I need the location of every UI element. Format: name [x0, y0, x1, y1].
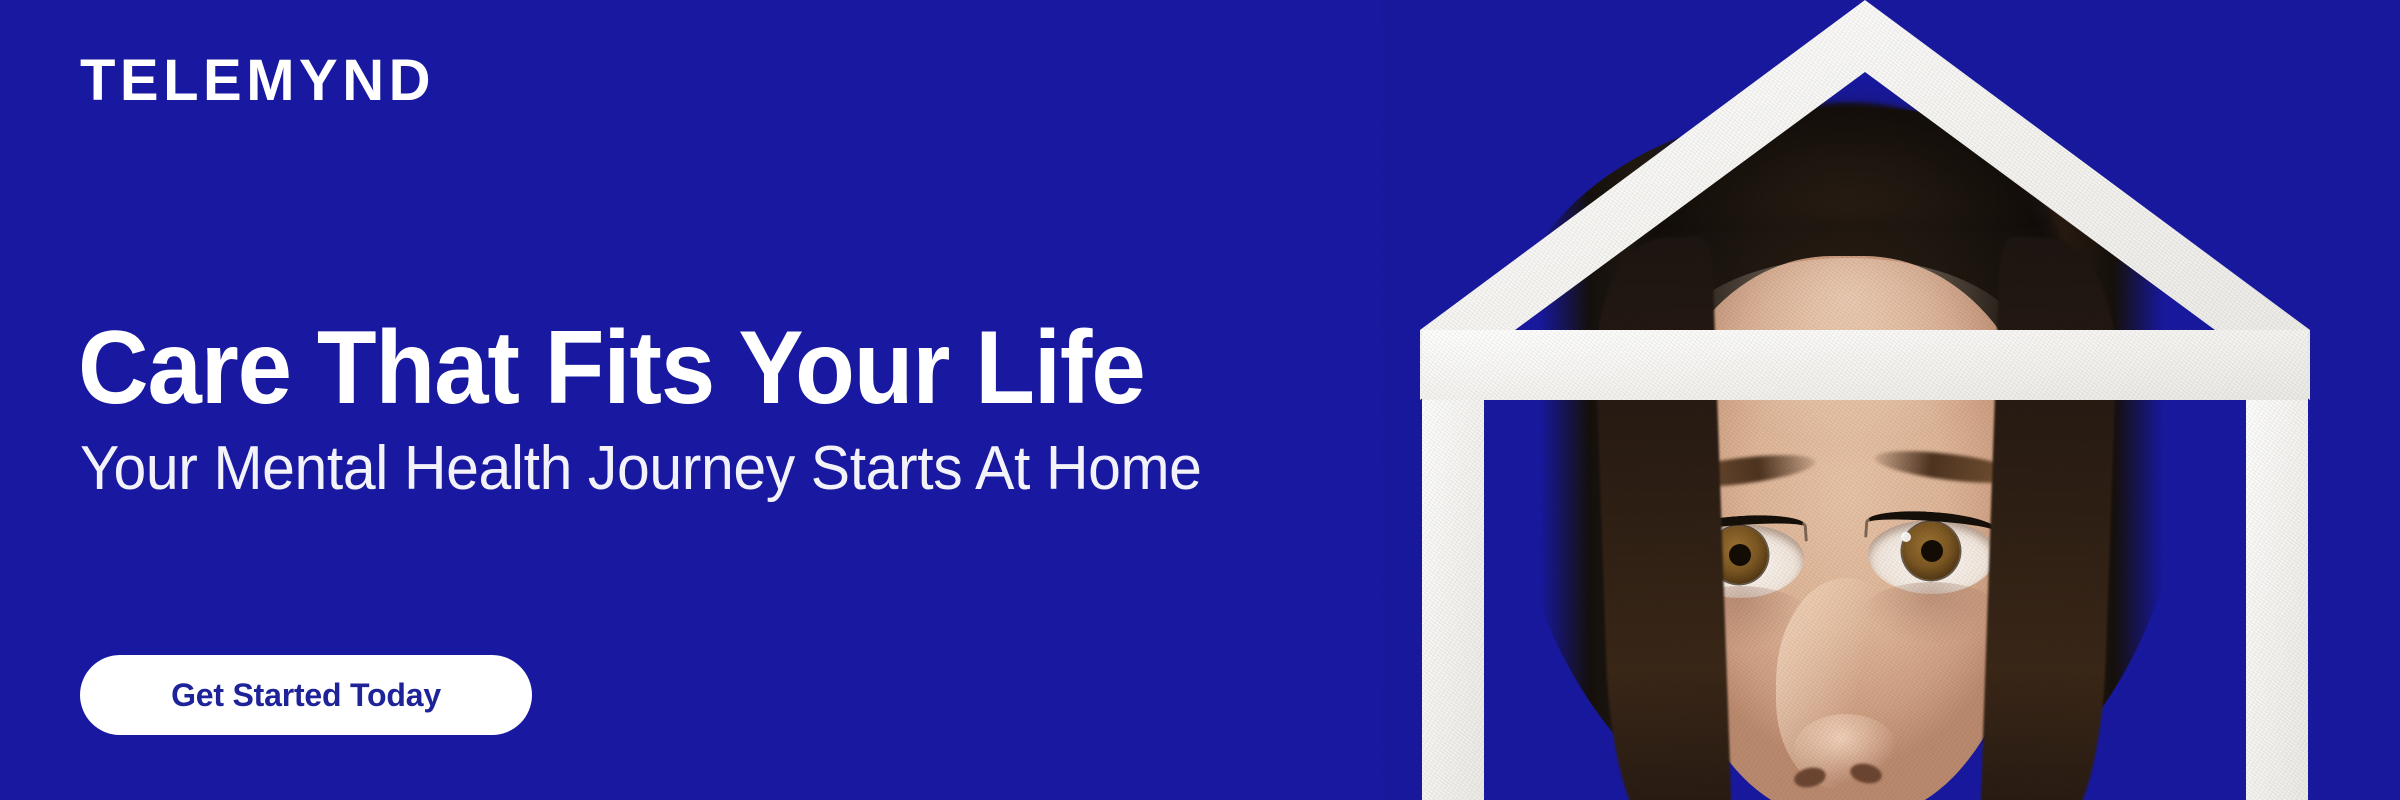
hero-headline: Care That Fits Your Life	[78, 316, 1145, 420]
hair-wisps	[1648, 88, 2048, 218]
portrait-illustration	[1498, 108, 2198, 800]
forehead-highlight	[1668, 258, 2028, 448]
hair-strand-right	[1980, 236, 2121, 800]
pupil-left	[1729, 544, 1751, 566]
hero-image	[1380, 0, 2400, 800]
hero-subheadline: Your Mental Health Journey Starts At Hom…	[80, 438, 1202, 500]
hair-strand-left	[1592, 236, 1733, 800]
pupil-right	[1921, 540, 1943, 562]
telemynd-logo[interactable]: TELEMYND	[80, 52, 435, 110]
get-started-button[interactable]: Get Started Today	[80, 655, 532, 735]
telemynd-hero-banner: TELEMYND Care That Fits Your Life Your M…	[0, 0, 2400, 800]
